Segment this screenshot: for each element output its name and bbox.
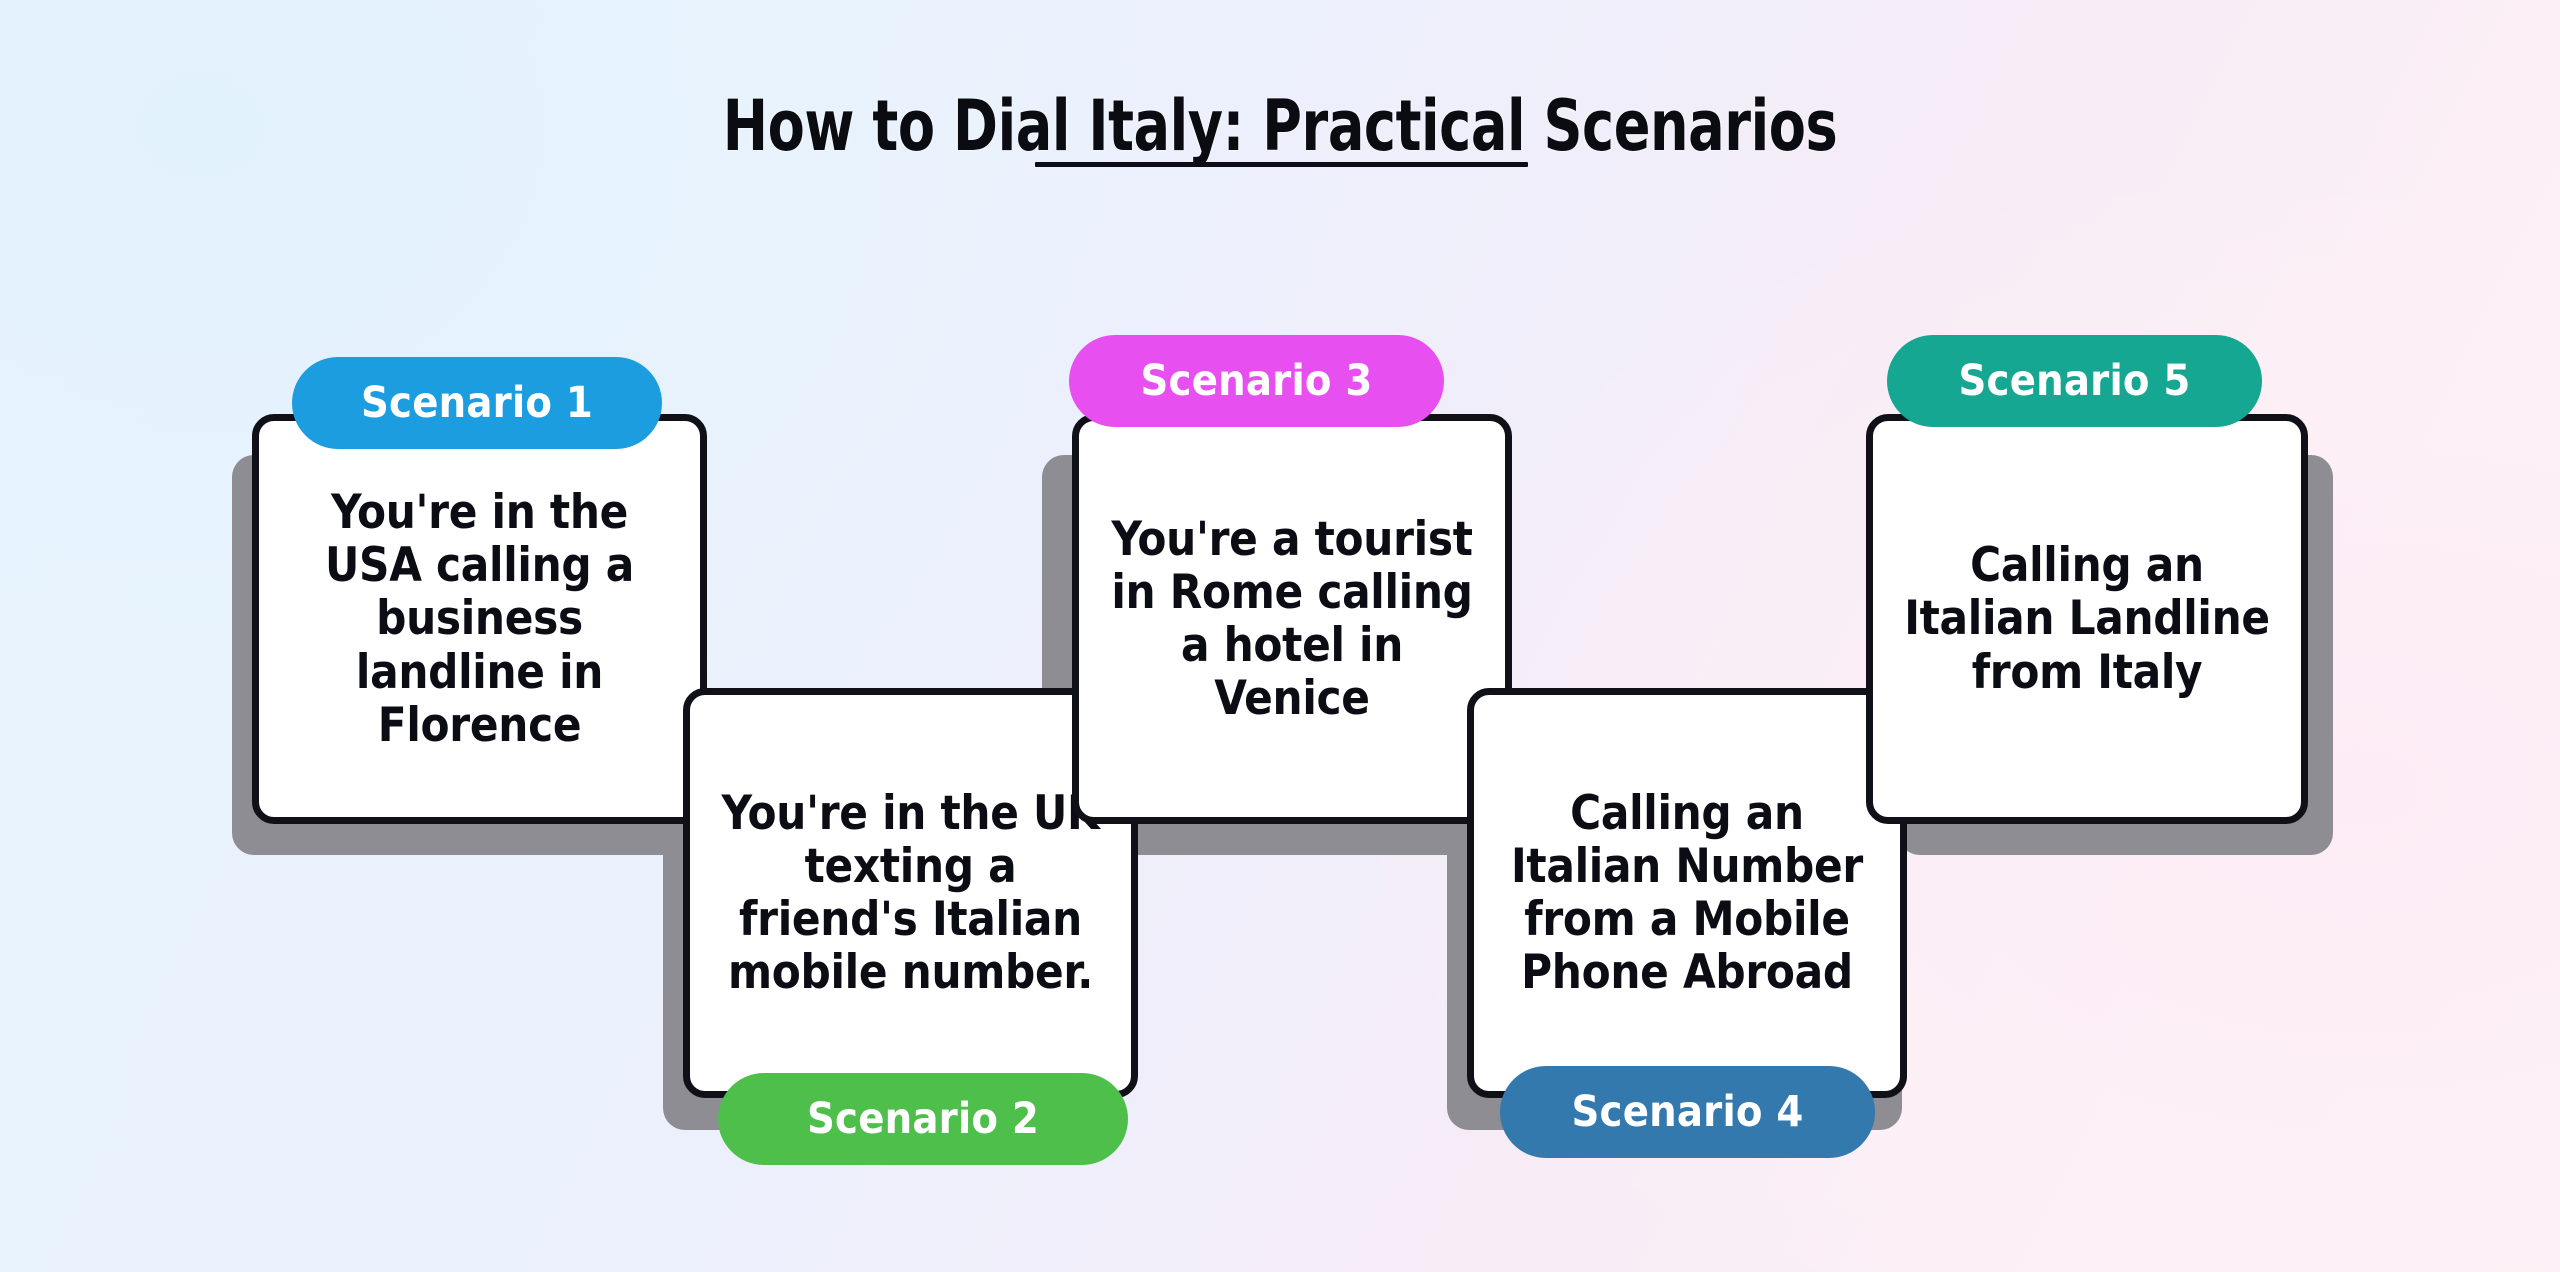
scenario-card-1[interactable]: You're in the USA calling a business lan… bbox=[252, 414, 707, 824]
scenario-card-3-body: You're a tourist in Rome calling a hotel… bbox=[1079, 421, 1505, 817]
scenario-card-4-body: Calling an Italian Number from a Mobile … bbox=[1474, 695, 1900, 1091]
scenario-badge-4[interactable]: Scenario 4 bbox=[1500, 1066, 1875, 1158]
scenario-card-5-text: Calling an Italian Landline from Italy bbox=[1899, 539, 2275, 698]
scenario-card-3-text: You're a tourist in Rome calling a hotel… bbox=[1105, 513, 1479, 725]
scenario-card-4-text: Calling an Italian Number from a Mobile … bbox=[1500, 787, 1874, 999]
scenario-card-2[interactable]: You're in the UK texting a friend's Ital… bbox=[683, 688, 1138, 1098]
scenario-badge-5[interactable]: Scenario 5 bbox=[1887, 335, 2262, 427]
scenario-card-5-body: Calling an Italian Landline from Italy bbox=[1873, 421, 2301, 817]
scenario-card-1-text: You're in the USA calling a business lan… bbox=[285, 486, 674, 752]
scenario-badge-2-label: Scenario 2 bbox=[807, 1094, 1039, 1144]
scenario-badge-5-label: Scenario 5 bbox=[1959, 356, 2191, 406]
scenario-card-2-text: You're in the UK texting a friend's Ital… bbox=[716, 787, 1105, 999]
scenario-badge-1-label: Scenario 1 bbox=[361, 378, 593, 428]
scenario-card-3[interactable]: You're a tourist in Rome calling a hotel… bbox=[1072, 414, 1512, 824]
scenario-card-2-body: You're in the UK texting a friend's Ital… bbox=[690, 695, 1131, 1091]
scenario-badge-3[interactable]: Scenario 3 bbox=[1069, 335, 1444, 427]
infographic-canvas: How to Dial Italy: Practical Scenarios Y… bbox=[0, 0, 2560, 1272]
scenario-badge-3-label: Scenario 3 bbox=[1141, 356, 1373, 406]
scenario-badge-2[interactable]: Scenario 2 bbox=[718, 1073, 1128, 1165]
scenario-card-4[interactable]: Calling an Italian Number from a Mobile … bbox=[1467, 688, 1907, 1098]
scenario-badge-1[interactable]: Scenario 1 bbox=[292, 357, 662, 449]
scenario-badge-4-label: Scenario 4 bbox=[1572, 1087, 1804, 1137]
page-title: How to Dial Italy: Practical Scenarios bbox=[179, 90, 2381, 164]
scenario-card-5[interactable]: Calling an Italian Landline from Italy bbox=[1866, 414, 2308, 824]
scenario-card-1-body: You're in the USA calling a business lan… bbox=[259, 421, 700, 817]
title-divider bbox=[1035, 162, 1528, 167]
title-block: How to Dial Italy: Practical Scenarios bbox=[0, 90, 2560, 164]
